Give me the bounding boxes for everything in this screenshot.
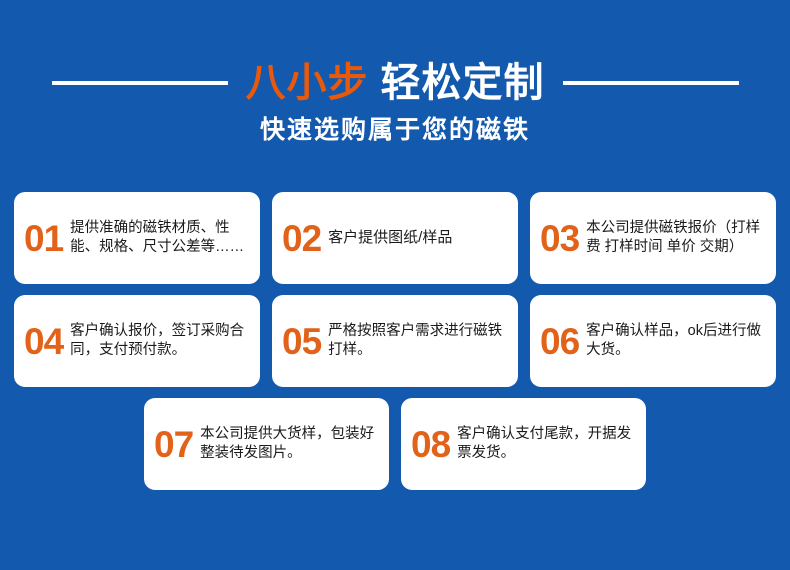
banner-subtitle: 快速选购属于您的磁铁: [0, 118, 790, 143]
step-number-01: 01: [24, 220, 70, 257]
step-number-02: 02: [282, 220, 328, 257]
steps-grid: 01 提供准确的磁铁材质、性能、规格、尺寸公差等…… 02 客户提供图纸/样品 …: [14, 192, 776, 501]
step-number-03: 03: [540, 220, 586, 257]
banner-title: 八小步 轻松定制: [246, 63, 545, 103]
step-text-06: 客户确认样品，ok后进行做大货。: [586, 322, 768, 360]
rule-right-divider: [563, 81, 739, 85]
eight-steps-banner: 八小步 轻松定制 快速选购属于您的磁铁 01 提供准确的磁铁材质、性能、规格、尺…: [0, 0, 790, 570]
banner-header: 八小步 轻松定制 快速选购属于您的磁铁: [0, 0, 790, 180]
step-number-06: 06: [540, 323, 586, 360]
step-card-08: 08 客户确认支付尾款，开据发票发货。: [401, 398, 646, 490]
step-card-01: 01 提供准确的磁铁材质、性能、规格、尺寸公差等……: [14, 192, 260, 284]
step-text-01: 提供准确的磁铁材质、性能、规格、尺寸公差等……: [70, 219, 252, 257]
steps-row-3: 07 本公司提供大货样，包装好整装待发图片。 08 客户确认支付尾款，开据发票发…: [14, 398, 776, 490]
step-number-04: 04: [24, 323, 70, 360]
step-card-05: 05 严格按照客户需求进行磁铁打样。: [272, 295, 518, 387]
step-text-02: 客户提供图纸/样品: [328, 228, 510, 248]
step-number-05: 05: [282, 323, 328, 360]
steps-row-2: 04 客户确认报价，签订采购合同，支付预付款。 05 严格按照客户需求进行磁铁打…: [14, 295, 776, 387]
step-number-07: 07: [154, 426, 200, 463]
step-card-04: 04 客户确认报价，签订采购合同，支付预付款。: [14, 295, 260, 387]
steps-row-1: 01 提供准确的磁铁材质、性能、规格、尺寸公差等…… 02 客户提供图纸/样品 …: [14, 192, 776, 284]
step-text-07: 本公司提供大货样，包装好整装待发图片。: [200, 425, 381, 463]
step-text-05: 严格按照客户需求进行磁铁打样。: [328, 322, 510, 360]
step-text-03: 本公司提供磁铁报价（打样费 打样时间 单价 交期）: [586, 219, 768, 257]
title-accent-text: 八小步: [246, 63, 369, 103]
title-row: 八小步 轻松定制: [0, 55, 790, 111]
step-number-08: 08: [411, 426, 457, 463]
title-main-text: 轻松定制: [381, 63, 545, 103]
step-card-03: 03 本公司提供磁铁报价（打样费 打样时间 单价 交期）: [530, 192, 776, 284]
step-card-07: 07 本公司提供大货样，包装好整装待发图片。: [144, 398, 389, 490]
step-text-04: 客户确认报价，签订采购合同，支付预付款。: [70, 322, 252, 360]
rule-left-divider: [52, 81, 228, 85]
step-text-08: 客户确认支付尾款，开据发票发货。: [457, 425, 638, 463]
step-card-02: 02 客户提供图纸/样品: [272, 192, 518, 284]
step-card-06: 06 客户确认样品，ok后进行做大货。: [530, 295, 776, 387]
